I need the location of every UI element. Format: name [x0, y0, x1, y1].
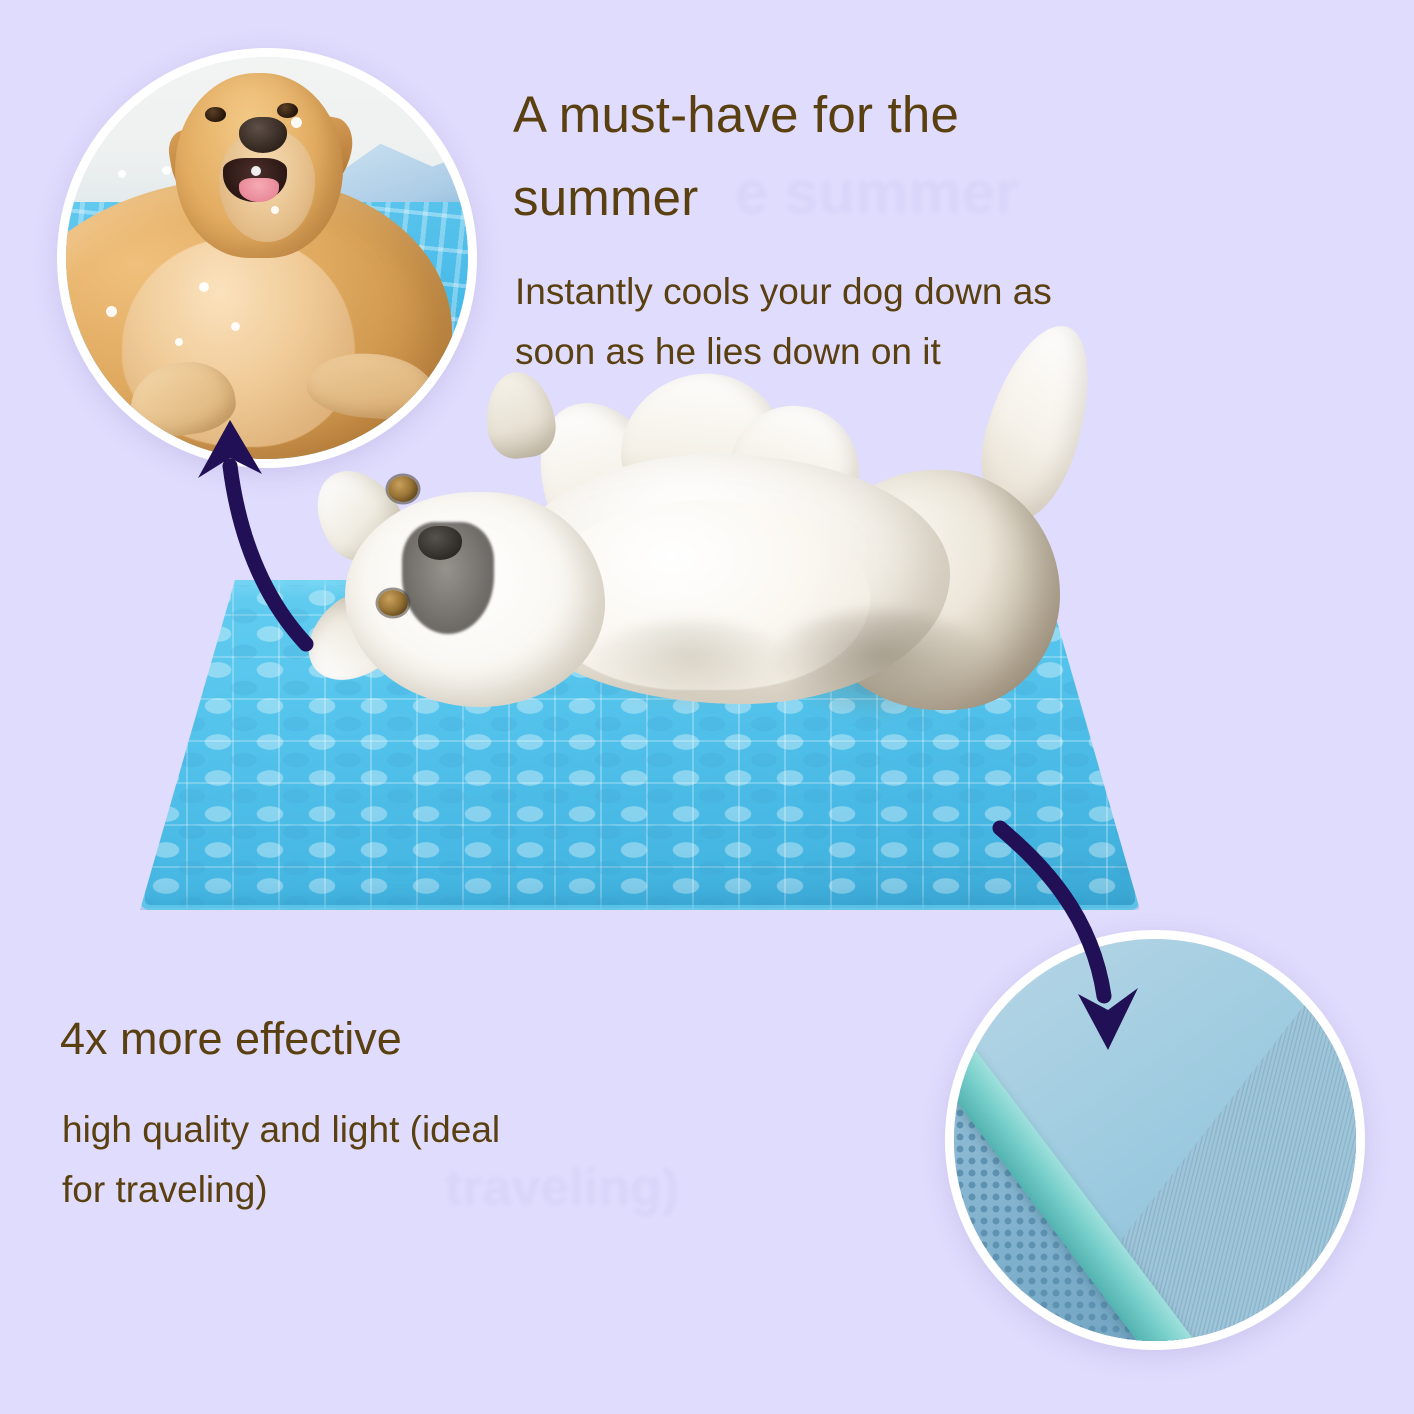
- water-droplet: [118, 170, 126, 178]
- headline-primary: A must-have for the summer: [513, 74, 1213, 239]
- husky-fur-shading-mid: [590, 620, 790, 710]
- husky-eye-lower: [378, 590, 408, 616]
- subcopy-primary: Instantly cools your dog down as soon as…: [515, 262, 1215, 382]
- husky-ear-upper: [480, 368, 559, 463]
- golden-retriever-scene: [66, 57, 468, 459]
- husky-dog: [290, 430, 1110, 760]
- husky-eye-upper: [388, 476, 418, 502]
- husky-fur-shading-rear: [770, 610, 990, 720]
- subcopy-secondary: high quality and light (ideal for travel…: [62, 1100, 682, 1220]
- water-droplet: [271, 206, 279, 214]
- water-droplet: [251, 166, 261, 176]
- golden-retriever-eye-right: [277, 103, 298, 117]
- water-droplet: [175, 338, 183, 346]
- water-droplet: [162, 166, 171, 175]
- inset-photo-golden-retriever: [57, 48, 477, 468]
- water-droplet: [199, 282, 209, 292]
- golden-retriever-eye-left: [205, 107, 226, 121]
- husky-nose: [418, 526, 462, 560]
- headline-secondary: 4x more effective: [60, 1007, 700, 1070]
- golden-retriever-tongue: [239, 178, 279, 202]
- inset-photo-fabric-closeup: [945, 930, 1365, 1350]
- fabric-closeup-scene: [954, 939, 1356, 1341]
- main-product-photo: [120, 430, 1160, 930]
- product-infographic-poster: e summer traveling): [0, 0, 1414, 1414]
